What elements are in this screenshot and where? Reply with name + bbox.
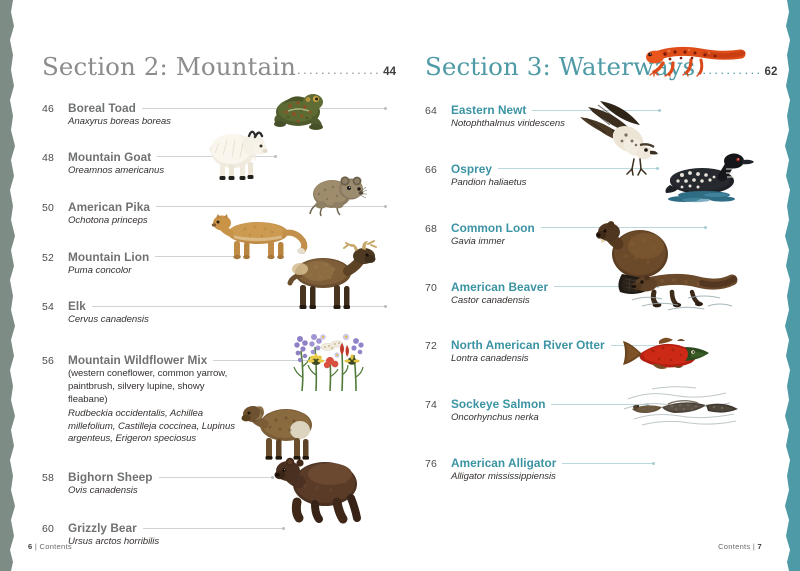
left-page: Section 2: Mountain .............. 44 46…	[0, 0, 400, 571]
leader-rule	[554, 286, 658, 287]
leader-rule	[157, 156, 276, 157]
entry-page-number: 52	[42, 250, 68, 278]
section-heading-waterways: Section 3: Waterways ........... 62	[425, 52, 770, 81]
entry-scientific-name: Castor canadensis	[451, 295, 770, 308]
entry-page-number: 64	[425, 103, 451, 131]
entry-page-number: 70	[425, 280, 451, 308]
leader-rule	[142, 108, 386, 109]
list-item[interactable]: 66 Osprey Pandion haliaetus	[425, 162, 770, 190]
leader-rule	[562, 463, 654, 464]
list-item[interactable]: 56 Mountain Wildflower Mix (western cone…	[42, 353, 386, 446]
section-heading-title: Section 2: Mountain	[42, 52, 296, 81]
leader-rule	[213, 360, 332, 361]
right-page: Section 3: Waterways ........... 62 64 E…	[400, 0, 800, 571]
leader-rule	[143, 528, 284, 529]
leader-rule	[498, 168, 658, 169]
entry-scientific-name: Gavia immer	[451, 236, 770, 249]
list-item[interactable]: 64 Eastern Newt Notophthalmus viridescen…	[425, 103, 770, 131]
entry-page-number: 72	[425, 338, 451, 366]
leader-rule	[155, 256, 240, 257]
section-page-number: 44	[383, 66, 396, 81]
folio-right: Contents | 7	[718, 542, 762, 551]
section-heading-mountain: Section 2: Mountain .............. 44	[42, 52, 386, 81]
section-page-number: 62	[764, 66, 777, 81]
entry-title: Boreal Toad	[68, 101, 136, 115]
entry-scientific-name: Oncorhynchus nerka	[451, 412, 770, 425]
entry-page-number: 68	[425, 221, 451, 249]
leader-rule	[156, 206, 386, 207]
entry-common-names: (western coneflower, common yarrow, pain…	[68, 368, 246, 407]
entry-scientific-name: Ochotona princeps	[68, 215, 386, 228]
list-item[interactable]: 50 American Pika Ochotona princeps	[42, 200, 386, 228]
entry-scientific-name: Anaxyrus boreas boreas	[68, 116, 386, 129]
list-item[interactable]: 70 American Beaver Castor canadensis	[425, 280, 770, 308]
waterways-entry-list: 64 Eastern Newt Notophthalmus viridescen…	[425, 103, 770, 484]
entry-title: Grizzly Bear	[68, 521, 137, 535]
right-deckled-edge	[778, 0, 800, 571]
entry-title: American Beaver	[451, 280, 548, 294]
folio-label: Contents	[40, 542, 72, 551]
entry-title: Elk	[68, 299, 86, 313]
list-item[interactable]: 76 American Alligator Alligator mississi…	[425, 456, 770, 484]
leader-rule	[159, 477, 273, 478]
entry-scientific-name: Puma concolor	[68, 265, 386, 278]
entry-scientific-name: Ursus arctos horribilis	[68, 536, 386, 549]
entry-page-number: 58	[42, 470, 68, 498]
entry-scientific-name: Lontra canadensis	[451, 353, 770, 366]
entry-page-number: 74	[425, 397, 451, 425]
folio-page-number: 7	[758, 542, 762, 551]
entry-title: Common Loon	[451, 221, 535, 235]
folio-page-number: 6	[28, 542, 32, 551]
leader-dots: ..............	[297, 62, 381, 81]
entry-title: American Alligator	[451, 456, 556, 470]
entry-page-number: 66	[425, 162, 451, 190]
folio-separator: |	[753, 542, 755, 551]
list-item[interactable]: 58 Bighorn Sheep Ovis canadensis	[42, 470, 386, 498]
list-item[interactable]: 52 Mountain Lion Puma concolor	[42, 250, 386, 278]
entry-title: Osprey	[451, 162, 492, 176]
entry-page-number: 76	[425, 456, 451, 484]
entry-page-number: 46	[42, 101, 68, 129]
entry-scientific-name: Ovis canadensis	[68, 485, 386, 498]
entry-title: Sockeye Salmon	[451, 397, 545, 411]
leader-rule	[611, 345, 664, 346]
list-item[interactable]: 48 Mountain Goat Oreamnos americanus	[42, 150, 386, 178]
entry-page-number: 56	[42, 353, 68, 446]
leader-rule	[541, 227, 706, 228]
leader-rule	[92, 306, 386, 307]
entry-title: Mountain Goat	[68, 150, 151, 164]
list-item[interactable]: 46 Boreal Toad Anaxyrus boreas boreas	[42, 101, 386, 129]
leader-rule	[532, 110, 660, 111]
mountain-entry-list: 46 Boreal Toad Anaxyrus boreas boreas 48…	[42, 101, 386, 549]
leader-rule	[551, 404, 648, 405]
entry-title: Mountain Wildflower Mix	[68, 353, 207, 367]
entry-page-number: 48	[42, 150, 68, 178]
entry-page-number: 50	[42, 200, 68, 228]
entry-scientific-name: Notophthalmus viridescens	[451, 118, 770, 131]
left-deckled-edge	[0, 0, 22, 571]
book-spread: Section 2: Mountain .............. 44 46…	[0, 0, 800, 571]
leader-dots: ...........	[696, 62, 762, 81]
entry-scientific-name: Cervus canadensis	[68, 314, 386, 327]
entry-title: Mountain Lion	[68, 250, 149, 264]
section-heading-title: Section 3: Waterways	[425, 52, 695, 81]
entry-scientific-name: Rudbeckia occidentalis, Achillea millefo…	[68, 408, 250, 447]
entry-scientific-name: Alligator mississippiensis	[451, 471, 770, 484]
entry-scientific-name: Oreamnos americanus	[68, 165, 386, 178]
list-item[interactable]: 68 Common Loon Gavia immer	[425, 221, 770, 249]
list-item[interactable]: 54 Elk Cervus canadensis	[42, 299, 386, 327]
list-item[interactable]: 60 Grizzly Bear Ursus arctos horribilis	[42, 521, 386, 549]
list-item[interactable]: 72 North American River Otter Lontra can…	[425, 338, 770, 366]
folio-separator: |	[35, 542, 37, 551]
entry-title: American Pika	[68, 200, 150, 214]
entry-scientific-name: Pandion haliaetus	[451, 177, 770, 190]
entry-title: Eastern Newt	[451, 103, 526, 117]
folio-left: 6 | Contents	[28, 542, 72, 551]
list-item[interactable]: 74 Sockeye Salmon Oncorhynchus nerka	[425, 397, 770, 425]
entry-title: North American River Otter	[451, 338, 605, 352]
entry-title: Bighorn Sheep	[68, 470, 153, 484]
folio-label: Contents	[718, 542, 750, 551]
entry-page-number: 54	[42, 299, 68, 327]
